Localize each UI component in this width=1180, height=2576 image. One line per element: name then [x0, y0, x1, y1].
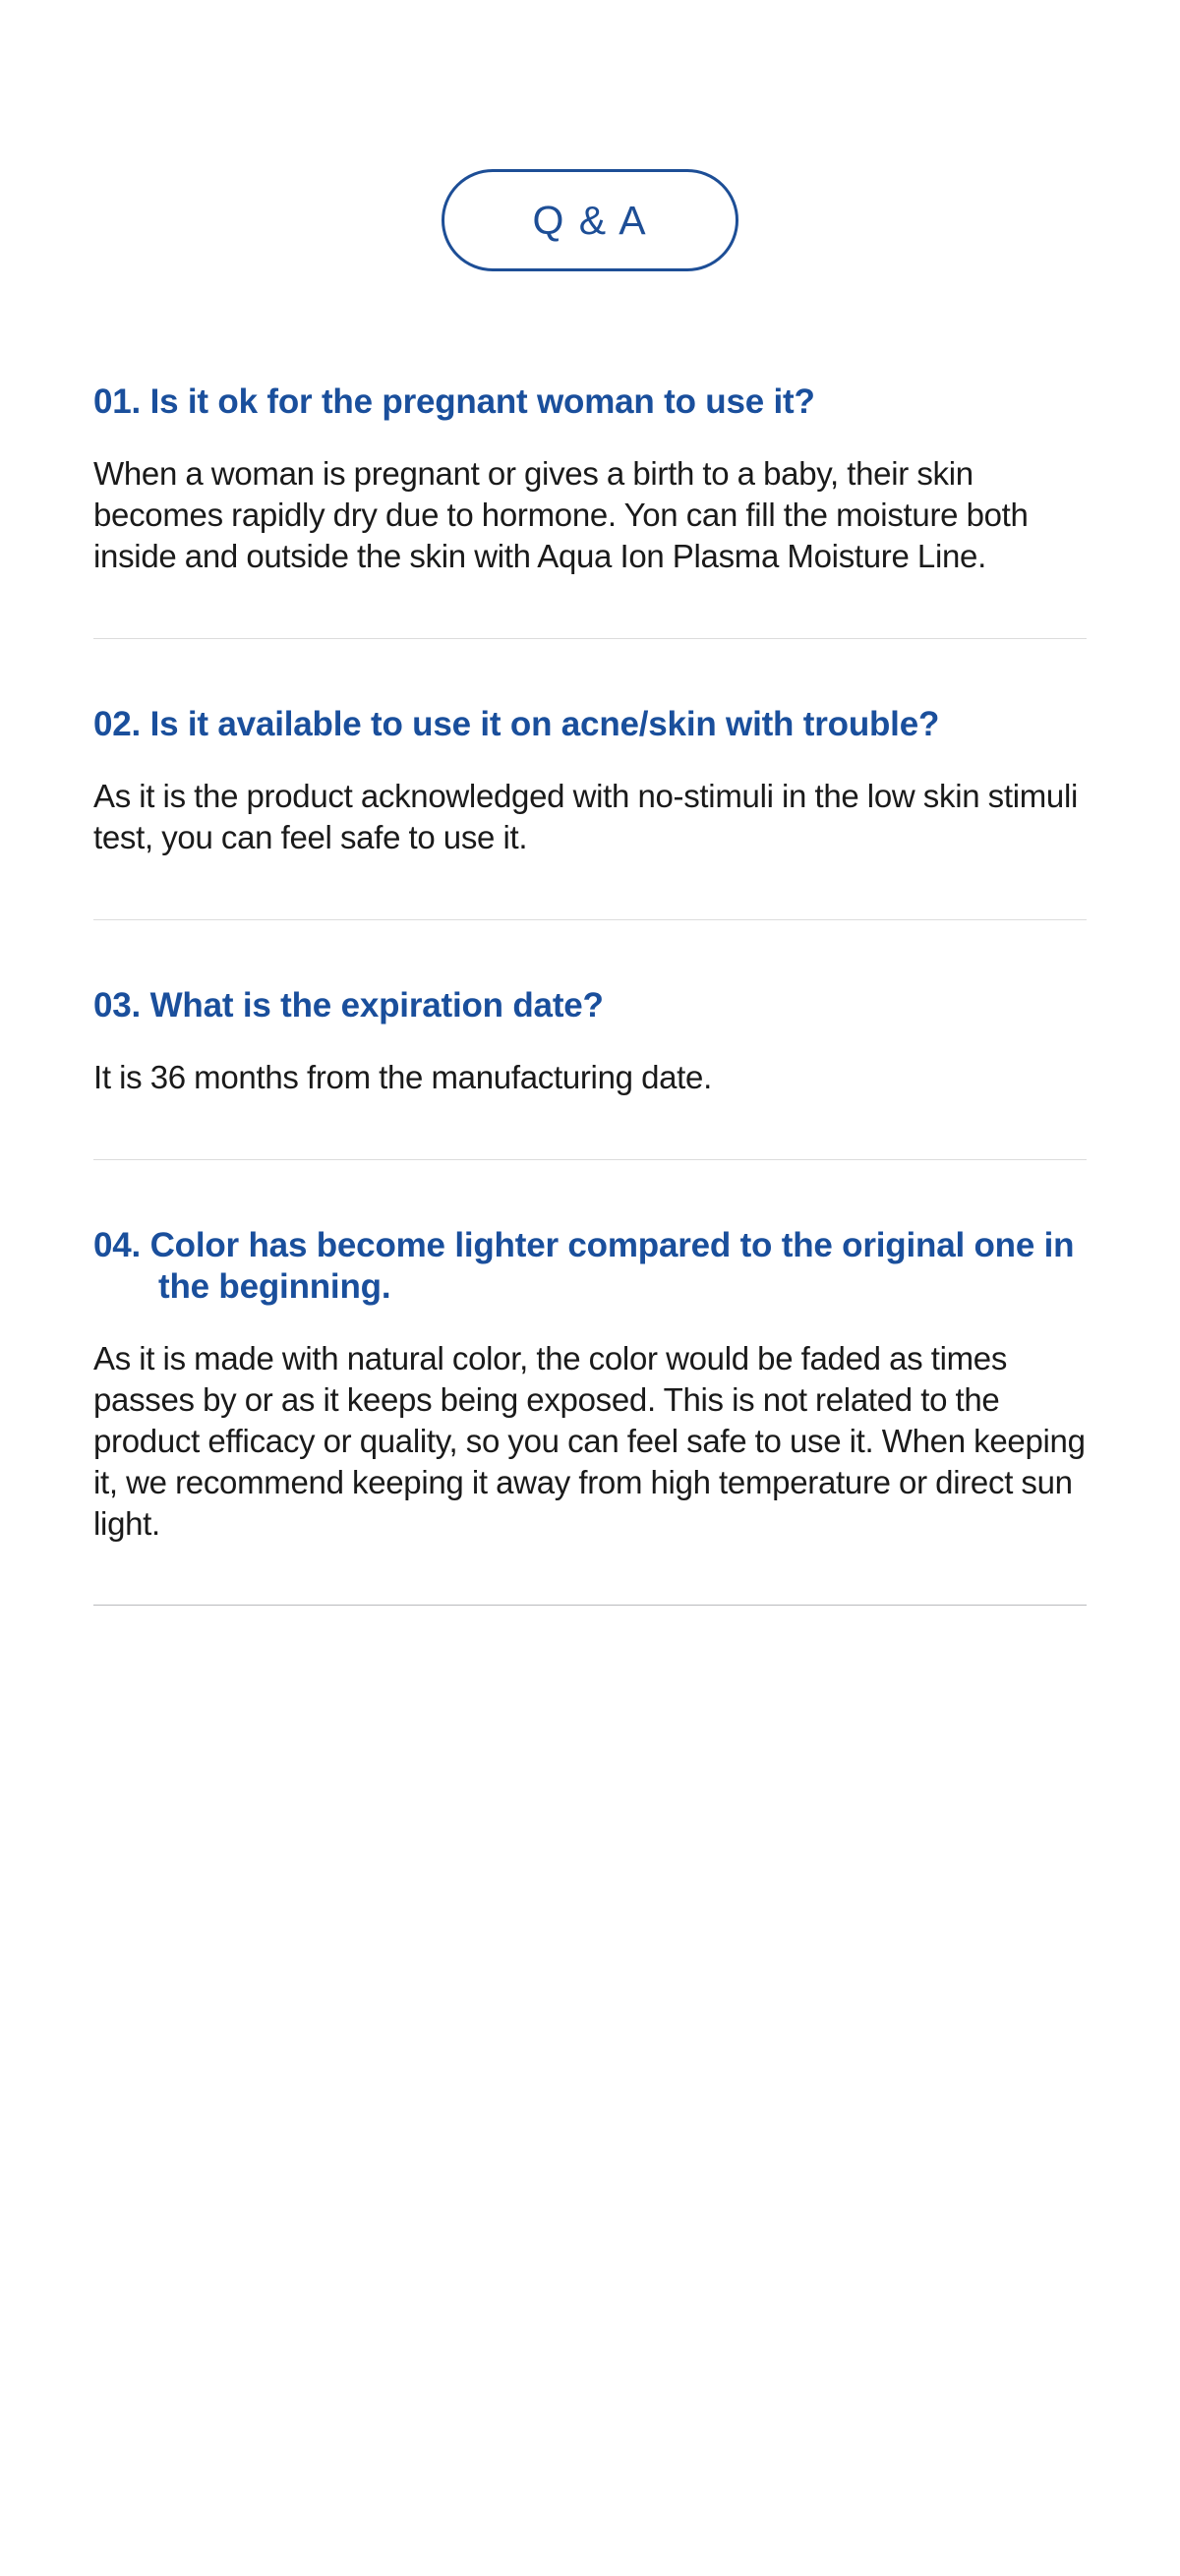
faq-gap-01 [93, 422, 1087, 453]
faq-question-04: 04. Color has become lighter compared to… [93, 1225, 1087, 1307]
faq-answer-04: As it is made with natural color, the co… [93, 1338, 1087, 1545]
faq-item-04: 04. Color has become lighter compared to… [0, 1225, 1180, 1605]
faq-item-03: 03. What is the expiration date? It is 3… [0, 985, 1180, 1159]
faq-divider-4 [93, 1605, 1087, 1606]
faq-question-text-03: What is the expiration date? [150, 986, 604, 1025]
faq-gap-02 [93, 744, 1087, 776]
faq-question-text-04: Color has become lighter compared to the… [150, 1226, 1075, 1305]
faq-item-01: 01. Is it ok for the pregnant woman to u… [0, 381, 1180, 638]
faq-question-text-01: Is it ok for the pregnant woman to use i… [150, 382, 815, 421]
faq-question-number-01: 01. [93, 382, 150, 421]
qa-badge: Q & A [442, 169, 738, 271]
qa-page: Q & A 01. Is it ok for the pregnant woma… [0, 0, 1180, 2576]
faq-question-02: 02. Is it available to use it on acne/sk… [93, 704, 1087, 744]
faq-answer-01: When a woman is pregnant or gives a birt… [93, 453, 1087, 577]
faq-bottom-spacer-03 [93, 1098, 1087, 1159]
faq-question-number-03: 03. [93, 986, 150, 1025]
faq-question-text-02: Is it available to use it on acne/skin w… [150, 705, 940, 743]
faq-answer-02: As it is the product acknowledged with n… [93, 776, 1087, 858]
qa-badge-row: Q & A [0, 0, 1180, 271]
faq-bottom-spacer-04 [93, 1544, 1087, 1605]
faq-bottom-spacer-02 [93, 858, 1087, 919]
faq-gap-03 [93, 1025, 1087, 1057]
faq-top-spacer-02 [0, 639, 1180, 704]
faq-question-number-02: 02. [93, 705, 150, 743]
faq-top-spacer-04 [0, 1160, 1180, 1225]
faq-answer-03: It is 36 months from the manufacturing d… [93, 1057, 1087, 1098]
faq-question-03: 03. What is the expiration date? [93, 985, 1087, 1025]
faq-top-spacer-03 [0, 920, 1180, 985]
faq-question-01: 01. Is it ok for the pregnant woman to u… [93, 381, 1087, 422]
faq-bottom-spacer-01 [93, 577, 1087, 638]
badge-bottom-spacer [0, 271, 1180, 381]
qa-badge-label: Q & A [532, 201, 647, 241]
faq-gap-04 [93, 1307, 1087, 1338]
faq-list: 01. Is it ok for the pregnant woman to u… [0, 381, 1180, 1606]
faq-item-02: 02. Is it available to use it on acne/sk… [0, 704, 1180, 919]
faq-question-number-04: 04. [93, 1226, 150, 1264]
